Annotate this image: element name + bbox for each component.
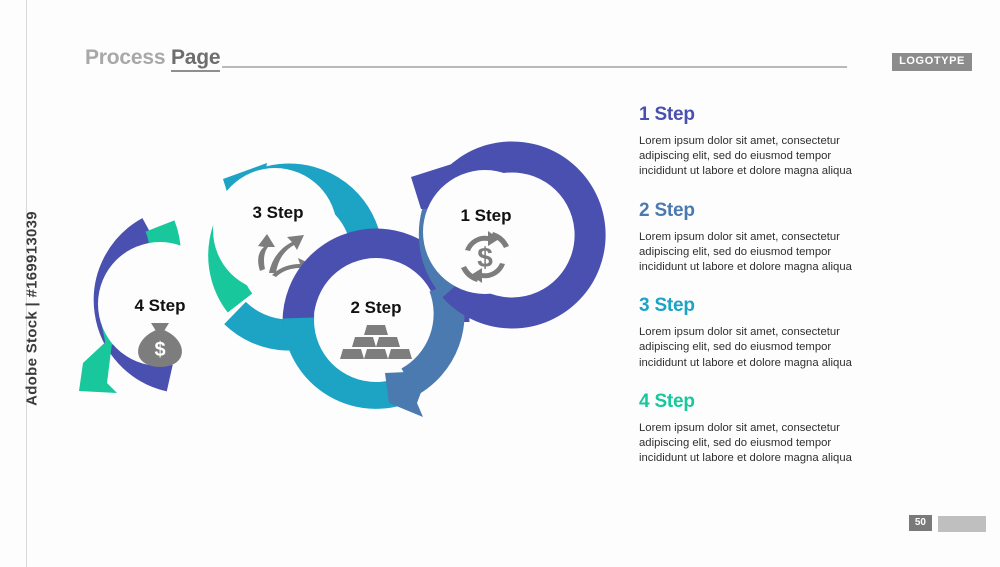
connector-steel-arrowhead [385,371,429,417]
process-diagram-svg: 4 Step $ 3 Step [55,135,595,435]
ring-1-label: 1 Step [460,206,511,225]
steps-text-column: 1 Step Lorem ipsum dolor sit amet, conse… [639,104,879,466]
page-title-light: Process [85,46,165,69]
step-block-4: 4 Step Lorem ipsum dolor sit amet, conse… [639,391,879,467]
svg-text:$: $ [477,242,493,273]
step-4-body: Lorem ipsum dolor sit amet, consectetur … [639,421,869,467]
page-title: Process Page [85,46,220,70]
adobe-stock-watermark: Adobe Stock | #169913039 [24,159,41,459]
footer-bar [938,516,986,532]
step-block-2: 2 Step Lorem ipsum dolor sit amet, conse… [639,200,879,276]
step-2-heading: 2 Step [639,200,879,222]
slide-canvas: Adobe Stock | #169913039 Process Page LO… [0,0,1000,567]
step-1-heading: 1 Step [639,104,879,126]
step-3-heading: 3 Step [639,295,879,317]
slide-header: Process Page LOGOTYPE [0,0,1000,95]
step-block-1: 1 Step Lorem ipsum dolor sit amet, conse… [639,104,879,180]
ring-step-4[interactable]: 4 Step $ [79,226,222,393]
ring-3-label: 3 Step [252,203,303,222]
svg-text:$: $ [154,339,165,361]
step-1-body: Lorem ipsum dolor sit amet, consectetur … [639,134,869,180]
ring-step-1[interactable]: 1 Step $ [411,157,590,313]
ring-2-label: 2 Step [350,298,401,317]
ring-4-arrowhead [79,335,117,393]
process-diagram: 4 Step $ 3 Step [55,135,595,435]
ring-4-label: 4 Step [134,296,185,315]
logotype-badge: LOGOTYPE [892,53,972,71]
page-number-badge: 50 [909,515,932,531]
step-3-body: Lorem ipsum dolor sit amet, consectetur … [639,325,869,371]
header-divider [222,66,847,68]
step-2-body: Lorem ipsum dolor sit amet, consectetur … [639,230,869,276]
step-4-heading: 4 Step [639,391,879,413]
step-block-3: 3 Step Lorem ipsum dolor sit amet, conse… [639,295,879,371]
page-title-dark: Page [171,46,220,72]
